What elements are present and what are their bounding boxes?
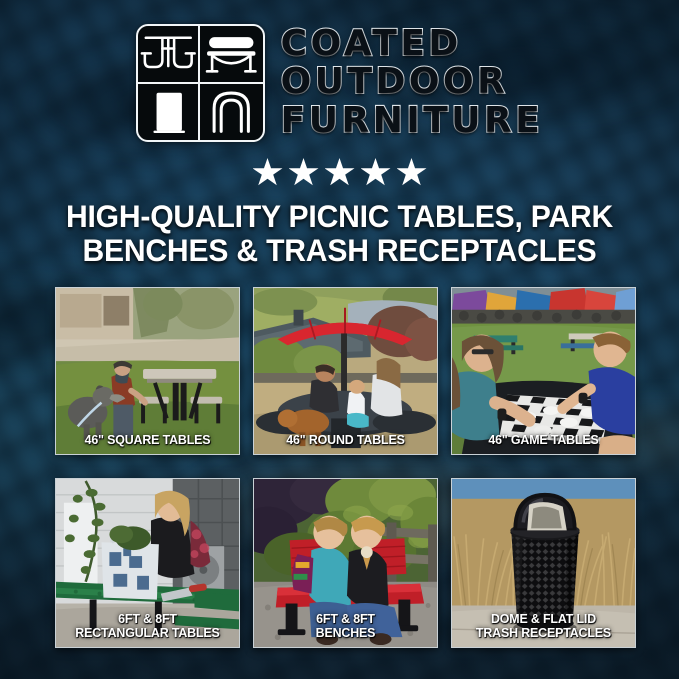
product-caption: 6FT & 8FT BENCHES [259, 612, 431, 640]
picnic-table-icon [138, 26, 201, 84]
product-caption: 46" SQUARE TABLES [61, 433, 233, 447]
caption-line-2: TRASH RECEPTACLES [461, 626, 626, 640]
caption-line-1: 6FT & 8FT [263, 612, 428, 626]
logo-word-line-2: OUTDOOR [281, 63, 544, 100]
product-card-round-tables[interactable]: 46" ROUND TABLES [253, 287, 438, 455]
headline-line-2: BENCHES & TRASH RECEPTACLES [36, 233, 642, 267]
caption-line-1: 46" SQUARE TABLES [65, 433, 230, 447]
product-caption: DOME & FLAT LID TRASH RECEPTACLES [457, 612, 629, 640]
product-caption: 46" GAME TABLES [457, 433, 629, 447]
advertisement-banner: COATED OUTDOOR FURNITURE HIGH-QUALITY PI… [0, 0, 679, 679]
caption-line-1: 6FT & 8FT [65, 612, 230, 626]
product-card-game-tables[interactable]: 46" GAME TABLES [451, 287, 636, 455]
logo-word-line-1: COATED [281, 25, 544, 62]
square-table-photo [56, 288, 239, 454]
product-card-benches[interactable]: 6FT & 8FT BENCHES [253, 478, 438, 648]
star-icon [289, 158, 319, 187]
caption-line-1: 46" ROUND TABLES [263, 433, 428, 447]
product-caption: 6FT & 8FT RECTANGULAR TABLES [61, 612, 233, 640]
caption-line-2: RECTANGULAR TABLES [65, 626, 230, 640]
logo-word-line-3: FURNITURE [281, 102, 544, 139]
caption-line-1: DOME & FLAT LID [461, 612, 626, 626]
trash-receptacle-icon [138, 84, 201, 140]
product-card-rectangular-tables[interactable]: 6FT & 8FT RECTANGULAR TABLES [55, 478, 240, 648]
brand-logo: COATED OUTDOOR FURNITURE [0, 24, 679, 142]
caption-line-1: 46" GAME TABLES [461, 433, 626, 447]
star-icon [253, 158, 283, 187]
park-bench-icon [200, 26, 263, 84]
headline-line-1: HIGH-QUALITY PICNIC TABLES, PARK [36, 199, 642, 233]
logo-wordmark: COATED OUTDOOR FURNITURE [281, 25, 544, 140]
star-icon [397, 158, 427, 187]
page-title: HIGH-QUALITY PICNIC TABLES, PARK BENCHES… [15, 199, 663, 268]
star-icon [325, 158, 355, 187]
game-table-photo [452, 288, 635, 454]
product-card-square-tables[interactable]: 46" SQUARE TABLES [55, 287, 240, 455]
caption-line-2: BENCHES [263, 626, 428, 640]
logo-icon-grid [136, 24, 265, 142]
star-icon [361, 158, 391, 187]
product-card-trash-receptacles[interactable]: DOME & FLAT LID TRASH RECEPTACLES [451, 478, 636, 648]
bike-rack-icon [200, 84, 263, 140]
product-caption: 46" ROUND TABLES [259, 433, 431, 447]
product-photo-grid: 46" SQUARE TABLES [55, 287, 625, 648]
round-table-photo [254, 288, 437, 454]
star-rating [0, 158, 679, 187]
